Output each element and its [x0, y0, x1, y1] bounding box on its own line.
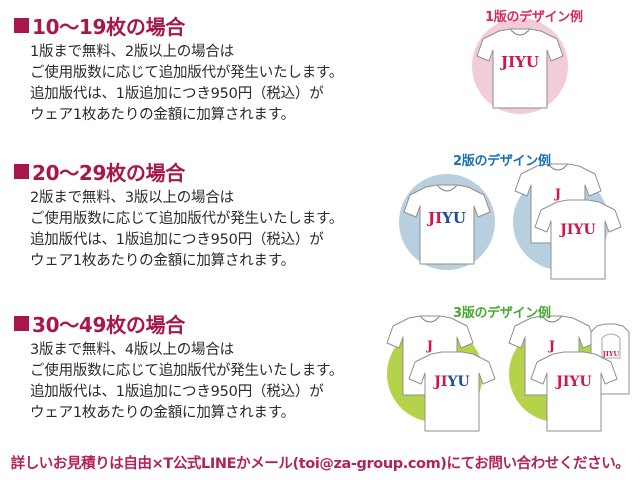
- logo-part-a: JI: [426, 209, 442, 227]
- section-heading-label: 20〜29枚の場合: [32, 157, 185, 186]
- body-line: 1版まで無料、2版以上の場合は: [30, 42, 420, 63]
- design-example-1ban: 1版のデザイン例 JIYU: [455, 4, 640, 149]
- shirt-logo-split: JIYU: [432, 374, 469, 390]
- footer-contact-note: 詳しいお見積りは自由×T公式LINEかメール(toi@za-group.com)…: [0, 452, 640, 473]
- pricing-section-10-19: 10〜19枚の場合 1版まで無料、2版以上の場合は ご使用版数に応じて追加版代が…: [0, 12, 420, 126]
- shirt-logo-short: J: [554, 187, 561, 202]
- bullet-square-icon: [14, 164, 29, 179]
- shirt-logo-split: JIYU: [426, 209, 466, 227]
- section-body-10-19: 1版まで無料、2版以上の場合は ご使用版数に応じて追加版代が発生いたします。 追…: [30, 42, 420, 126]
- bullet-square-icon: [14, 316, 29, 331]
- section-heading-label: 30〜49枚の場合: [32, 309, 185, 338]
- body-line: 追加版代は、1版追加につき950円（税込）が: [30, 230, 420, 251]
- section-heading-label: 10〜19枚の場合: [32, 11, 185, 40]
- shirt-logo-short: J: [548, 339, 555, 354]
- shirt-logo-tiny: JIYU: [602, 350, 620, 358]
- body-line: ご使用版数に応じて追加版代が発生いたします。: [30, 63, 420, 84]
- section-heading-10-19: 10〜19枚の場合: [14, 12, 420, 38]
- section-heading-20-29: 20〜29枚の場合: [14, 158, 420, 184]
- design-example-1ban-label: 1版のデザイン例: [485, 6, 583, 25]
- shirt-logo-short: J: [426, 339, 433, 354]
- bullet-square-icon: [14, 18, 29, 33]
- body-line: 追加版代は、1版追加につき950円（税込）が: [30, 84, 420, 105]
- design-example-3ban: 3版のデザイン例 J JIYU J: [345, 302, 640, 452]
- design-example-2ban-graphic: JIYU J JIYU: [385, 150, 640, 282]
- design-example-2ban: 2版のデザイン例 JIYU J J: [385, 150, 640, 300]
- design-example-3ban-graphic: J JIYU J JIYU: [345, 302, 640, 434]
- logo-part-b: YU: [446, 374, 469, 390]
- infographic-canvas: 10〜19枚の場合 1版まで無料、2版以上の場合は ご使用版数に応じて追加版代が…: [0, 0, 640, 480]
- logo-part-b: YU: [441, 209, 466, 227]
- body-line: 2版まで無料、3版以上の場合は: [30, 188, 420, 209]
- body-line: ウェア1枚あたりの金額に加算されます。: [30, 105, 420, 126]
- design-example-2ban-label: 2版のデザイン例: [453, 150, 551, 169]
- section-body-20-29: 2版まで無料、3版以上の場合は ご使用版数に応じて追加版代が発生いたします。 追…: [30, 188, 420, 272]
- shirt-logo-text: JIYU: [499, 53, 539, 71]
- pricing-section-20-29: 20〜29枚の場合 2版まで無料、3版以上の場合は ご使用版数に応じて追加版代が…: [0, 158, 420, 272]
- body-line: ご使用版数に応じて追加版代が発生いたします。: [30, 209, 420, 230]
- shirt-logo-text: JIYU: [554, 374, 591, 390]
- design-example-3ban-label: 3版のデザイン例: [453, 302, 551, 321]
- logo-part-a: JI: [432, 374, 447, 390]
- body-line: ウェア1枚あたりの金額に加算されます。: [30, 251, 420, 272]
- shirt-logo-text: JIYU: [558, 222, 595, 238]
